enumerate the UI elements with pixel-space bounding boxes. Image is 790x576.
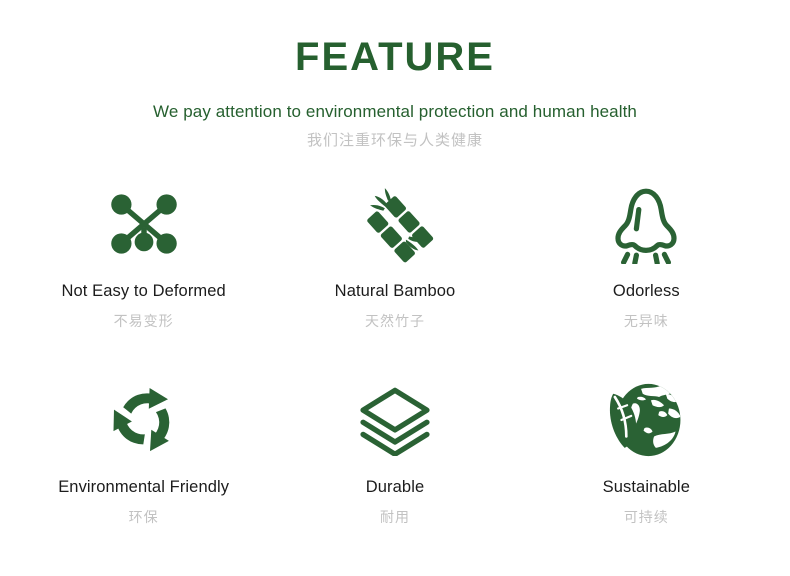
subtitle-english: We pay attention to environmental protec…	[0, 102, 790, 122]
feature-label-cn: 可持续	[624, 509, 669, 526]
feature-item-natural-bamboo: Natural Bamboo 天然竹子	[269, 172, 520, 368]
feature-label-cn: 天然竹子	[365, 313, 425, 330]
feature-label-en: Not Easy to Deformed	[62, 282, 226, 302]
subtitle-chinese: 我们注重环保与人类健康	[0, 132, 790, 150]
feature-label-cn: 耐用	[380, 509, 410, 526]
feature-label-en: Odorless	[613, 282, 680, 302]
layers-stack-icon	[357, 368, 433, 472]
feature-item-environmental-friendly: Environmental Friendly 环保	[18, 368, 269, 564]
feature-label-cn: 无异味	[624, 313, 669, 330]
molecule-structure-icon	[105, 172, 183, 276]
feature-section: FEATURE We pay attention to environmenta…	[0, 0, 790, 576]
page-title: FEATURE	[0, 36, 790, 78]
feature-item-odorless: Odorless 无异味	[521, 172, 772, 368]
feature-label-en: Natural Bamboo	[335, 282, 456, 302]
feature-label-en: Sustainable	[603, 478, 690, 498]
feature-label-en: Environmental Friendly	[58, 478, 229, 498]
feature-label-cn: 环保	[129, 509, 159, 526]
feature-item-durable: Durable 耐用	[269, 368, 520, 564]
globe-leaf-icon	[605, 368, 687, 472]
feature-header: FEATURE We pay attention to environmenta…	[0, 0, 790, 150]
recycle-icon	[104, 368, 184, 472]
nose-icon	[606, 172, 686, 276]
feature-grid: Not Easy to Deformed 不易变形	[0, 172, 790, 564]
feature-item-sustainable: Sustainable 可持续	[521, 368, 772, 564]
feature-item-not-easy-to-deformed: Not Easy to Deformed 不易变形	[18, 172, 269, 368]
feature-label-en: Durable	[366, 478, 424, 498]
feature-label-cn: 不易变形	[114, 313, 174, 330]
bamboo-icon	[356, 172, 434, 276]
